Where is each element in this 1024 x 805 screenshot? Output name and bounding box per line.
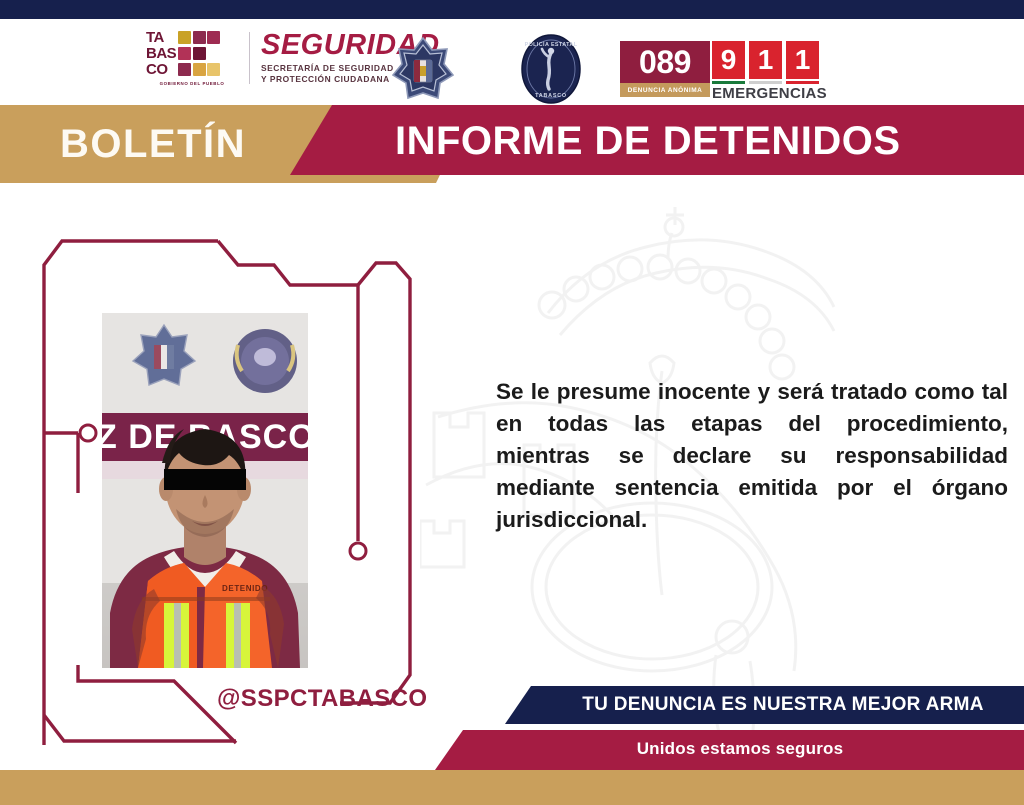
tabasco-glyph-icon [207, 31, 220, 44]
denuncia-anonima-089-logo: 089 DENUNCIA ANÓNIMA [620, 41, 710, 97]
tabasco-logo-line-2: BAS [146, 46, 238, 61]
tabasco-glyphs-row-2 [178, 47, 206, 61]
flag-green-bar [712, 81, 745, 84]
tabasco-glyph-icon [193, 47, 206, 60]
tabasco-glyph-icon [178, 63, 191, 76]
social-handle: @SSPCTABASCO [217, 686, 427, 712]
tabasco-glyphs-row-3 [178, 63, 220, 77]
footer-tagline: Unidos estamos seguros [470, 738, 1010, 759]
title-banner: BOLETÍN INFORME DE DETENIDOS [0, 105, 1024, 200]
tabasco-logo: TA BAS CO [146, 27, 238, 89]
emergencias-911-logo: 9 1 1 EMERGENCIAS [712, 41, 820, 99]
tabasco-glyph-icon [178, 31, 191, 44]
tabasco-logo-line-1: TA [146, 30, 238, 45]
emergencias-caption: EMERGENCIAS [712, 85, 820, 102]
ssp-star-badge-icon [392, 36, 454, 104]
tabasco-logo-text-co: CO [146, 62, 178, 77]
policia-estatal-badge-icon: POLICÍA ESTATAL TABASCO [520, 33, 582, 105]
boletin-poster: TA BAS CO [0, 0, 1024, 805]
svg-text:POLICÍA ESTATAL: POLICÍA ESTATAL [525, 40, 578, 48]
banner-right-label: INFORME DE DETENIDOS [395, 119, 901, 163]
tabasco-glyphs-row-1 [178, 31, 220, 45]
denuncia-caption: DENUNCIA ANÓNIMA [628, 87, 703, 94]
detainee-photo: Z DE BASCO [102, 313, 308, 668]
denuncia-caption-plate: DENUNCIA ANÓNIMA [620, 83, 710, 97]
footer-slogan: TU DENUNCIA ES NUESTRA MEJOR ARMA [553, 694, 1013, 716]
flag-red-bar [786, 81, 819, 84]
footer-gold-band [0, 770, 1024, 805]
emergencias-digit-1a: 1 [749, 41, 782, 79]
svg-text:TABASCO: TABASCO [535, 93, 567, 99]
emergencias-digit-1b: 1 [786, 41, 819, 79]
banner-left-label: BOLETÍN [60, 122, 246, 166]
tabasco-glyph-icon [178, 47, 191, 60]
flag-white-bar [749, 81, 782, 84]
tabasco-logo-text-ta: TA [146, 30, 178, 45]
tabasco-logo-text-bas: BAS [146, 46, 178, 61]
denuncia-number-plate: 089 [620, 41, 710, 83]
tabasco-logo-tagline: GOBIERNO DEL PUEBLO [146, 81, 238, 86]
emergencias-digit-9: 9 [712, 41, 745, 79]
logo-divider [249, 32, 250, 84]
tabasco-glyph-icon [193, 31, 206, 44]
tabasco-logo-line-3: CO [146, 62, 238, 77]
disclaimer-text: Se le presume inocente y será tratado co… [496, 376, 1008, 536]
emergencias-flag-rule [712, 81, 820, 84]
tabasco-glyph-icon [193, 63, 206, 76]
tabasco-glyph-icon [207, 63, 220, 76]
top-navy-strip [0, 0, 1024, 19]
denuncia-number: 089 [639, 46, 691, 78]
emergencias-digits: 9 1 1 [712, 41, 820, 79]
